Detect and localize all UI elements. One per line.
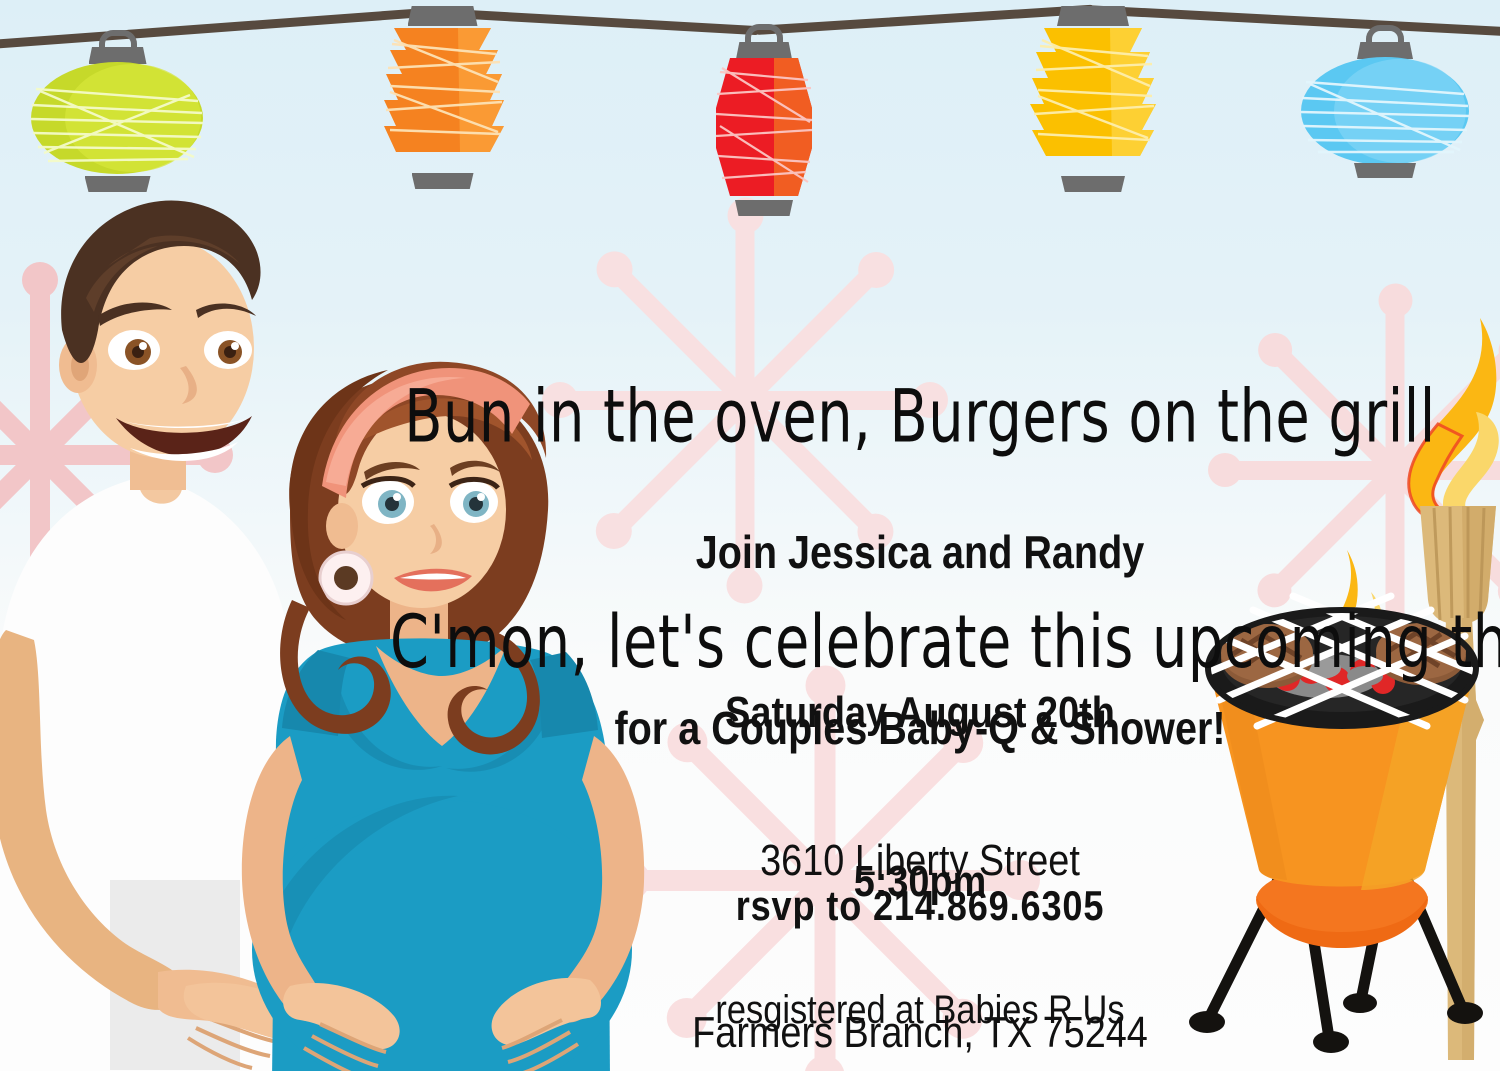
- lantern-cap-bottom: [1354, 163, 1416, 178]
- lantern-globe: [30, 61, 205, 196]
- lantern-wire-left: [0, 8, 429, 49]
- lantern-blue: [1300, 42, 1470, 172]
- registry-line: resgistered at Babies R Us: [559, 988, 1281, 1033]
- address-line-1: 3610 Liberty Street: [559, 832, 1281, 889]
- lantern-cap-bottom: [1061, 176, 1125, 192]
- rsvp-line: rsvp to 214.869.6305: [593, 882, 1247, 930]
- invitation-card: Bun in the oven, Burgers on the grill C'…: [0, 0, 1500, 1071]
- lantern-cap-bottom: [735, 200, 793, 216]
- lantern-orange: [380, 22, 505, 177]
- lantern-green: [30, 47, 205, 182]
- lantern-yellow: [1028, 22, 1158, 182]
- lantern-globe: [1028, 22, 1158, 177]
- lantern-globe: [380, 22, 505, 172]
- lantern-red: [712, 42, 816, 208]
- lantern-globe: [712, 56, 816, 206]
